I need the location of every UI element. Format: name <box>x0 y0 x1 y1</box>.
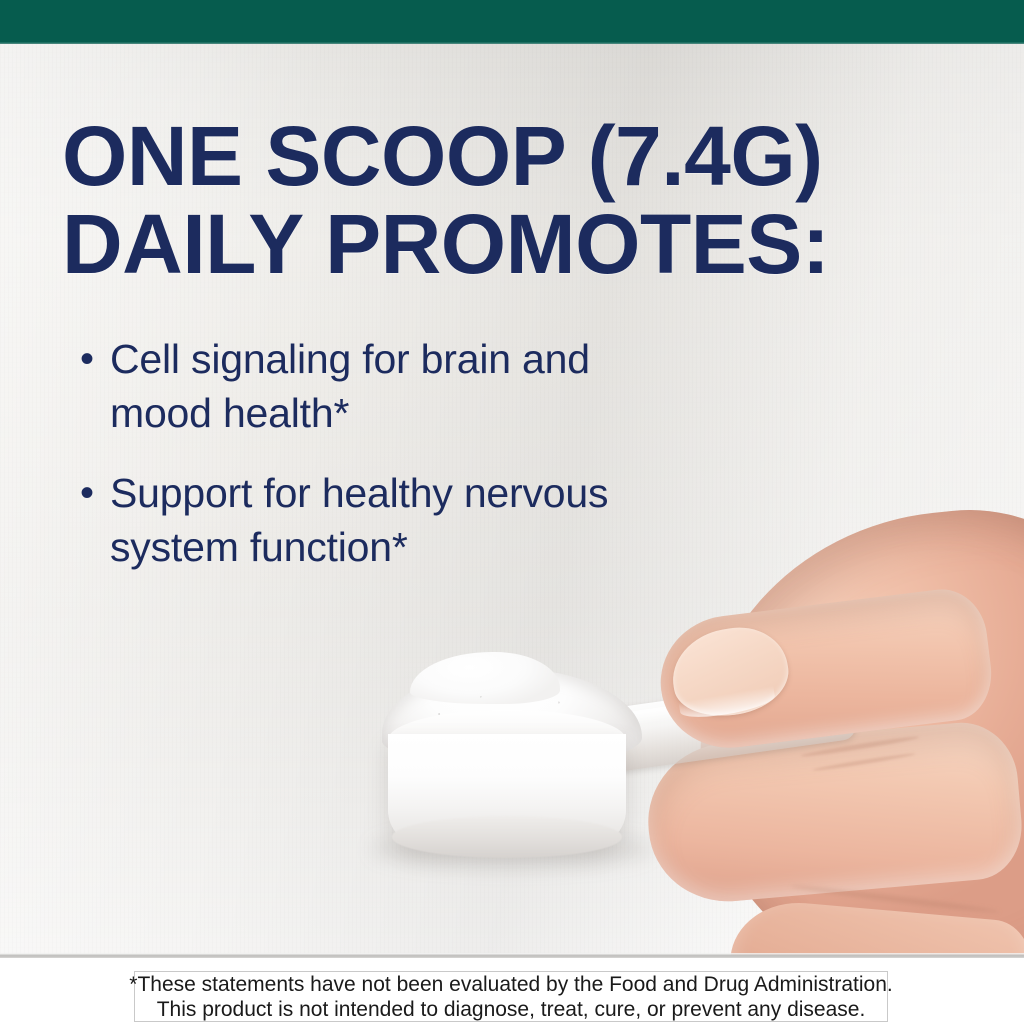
white-powder <box>382 668 642 764</box>
headline-line-2: DAILY PROMOTES: <box>62 200 829 288</box>
headline-line-1: ONE SCOOP (7.4G) <box>62 112 829 200</box>
brand-color-bar <box>0 0 1024 44</box>
disclaimer-line-2: This product is not intended to diagnose… <box>157 997 866 1022</box>
fda-disclaimer-box: *These statements have not been evaluate… <box>134 971 888 1022</box>
footer: *These statements have not been evaluate… <box>0 958 1024 1024</box>
page-title: ONE SCOOP (7.4G) DAILY PROMOTES: <box>62 112 829 288</box>
hand <box>677 491 1024 958</box>
middle-finger <box>642 718 1024 908</box>
bullet-icon: • <box>80 466 110 520</box>
benefit-text: Support for healthy nervous system funct… <box>110 466 700 574</box>
knuckle-crease <box>790 883 999 915</box>
bullet-icon: • <box>80 332 110 386</box>
scoop-drop-shadow <box>372 830 652 868</box>
benefit-text: Cell signaling for brain and mood health… <box>110 332 700 440</box>
product-benefits-panel: ONE SCOOP (7.4G) DAILY PROMOTES: • Cell … <box>0 0 1024 1024</box>
list-item: • Support for healthy nervous system fun… <box>80 466 700 574</box>
fingernail <box>665 620 794 725</box>
scoop-base <box>392 816 622 858</box>
photo-bottom-edge <box>0 953 1024 958</box>
knuckle-crease <box>800 735 919 759</box>
scoop-handle <box>601 675 857 773</box>
lower-finger-fold <box>725 897 1024 958</box>
scoop-rim <box>388 710 626 770</box>
measuring-scoop <box>388 734 626 846</box>
list-item: • Cell signaling for brain and mood heal… <box>80 332 700 440</box>
benefits-list: • Cell signaling for brain and mood heal… <box>80 332 700 600</box>
index-finger <box>653 584 997 755</box>
knuckle-crease <box>812 752 915 772</box>
disclaimer-line-1: *These statements have not been evaluate… <box>129 972 892 997</box>
